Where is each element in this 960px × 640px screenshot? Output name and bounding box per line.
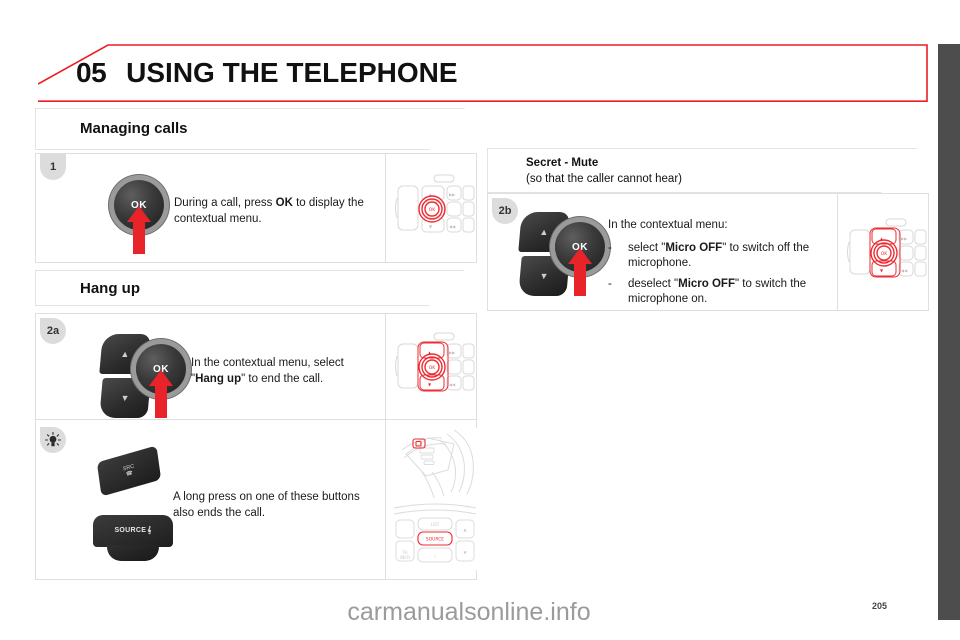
subsection-banner-hang-up: Hang up xyxy=(35,270,465,306)
secret-mute-subtitle: (so that the caller cannot hear) xyxy=(526,173,682,185)
source-button-label: SOURCE 𝄞 xyxy=(114,527,151,535)
thumbnail-radio-panel-rocker-ok-2b: ▲ ▼ ▶▶ ◀◀ OK xyxy=(846,216,928,290)
svg-text:LIST: LIST xyxy=(431,522,440,527)
section-banner: Managing calls xyxy=(35,108,465,150)
press-arrow-icon-step2a xyxy=(148,370,174,418)
step-badge-1: 1 xyxy=(40,154,66,180)
light-bulb-icon xyxy=(45,432,61,448)
page-edge-bar xyxy=(938,44,960,620)
svg-text:OK: OK xyxy=(429,365,437,371)
bullet-dash-1: - xyxy=(608,241,628,272)
step2a-text-bold: Hang up xyxy=(195,373,241,385)
step1-text-before: During a call, press xyxy=(174,197,276,209)
pen-glyph: 𝄞 xyxy=(147,527,151,534)
svg-text:OK: OK xyxy=(881,251,889,257)
secret-mute-title: Secret - Mute xyxy=(526,157,598,169)
step2a-text-after: " to end the call. xyxy=(241,373,323,385)
step2a-panel: 2a ▲ ▼ OK In the contextual menu, select… xyxy=(35,313,477,420)
bullet-dash-2: - xyxy=(608,277,628,308)
step-badge-2b: 2b xyxy=(492,198,518,224)
svg-text:▶▶: ▶▶ xyxy=(449,350,456,355)
svg-text:INFO: INFO xyxy=(400,555,410,560)
triangle-up-icon: ▲ xyxy=(539,227,549,237)
thumbnail-steering-wheel xyxy=(392,428,478,500)
tip-panel: SRC ☎ SOURCE 𝄞 A long press on one of th… xyxy=(35,420,477,580)
bullet-2-bold: Micro OFF xyxy=(678,278,735,290)
step1-text-bold: OK xyxy=(276,197,293,209)
thumbnail-radio-panel-ok: ▲ ▼ ▶▶ ◀◀ OK xyxy=(394,172,476,246)
step2b-bullet-1: - select "Micro OFF" to switch off the m… xyxy=(608,241,833,272)
watermark: carmanualsonline.info xyxy=(0,598,938,627)
step-badge-1-label: 1 xyxy=(50,161,56,173)
step2a-text: In the contextual menu, select "Hang up"… xyxy=(191,356,376,387)
step-badge-2a-label: 2a xyxy=(47,325,59,337)
thumbnail-centre-console: LIST TA INFO ♪ ▲ ▼ SOURCE xyxy=(392,498,478,570)
step1-text: During a call, press OK to display the c… xyxy=(174,196,374,227)
svg-text:◀◀: ◀◀ xyxy=(449,382,456,387)
source-button[interactable]: SOURCE 𝄞 xyxy=(93,515,173,547)
triangle-down-icon: ▼ xyxy=(539,271,549,281)
step2b-panel: 2b ▲ ▼ OK In the contextual menu: - sele… xyxy=(487,193,929,311)
bullet-2-text: deselect "Micro OFF" to switch the micro… xyxy=(628,277,833,308)
thumbnail-radio-panel-rocker-ok: ▲ ▼ ▶▶ ◀◀ OK xyxy=(394,330,476,404)
tip-text: A long press on one of these buttons als… xyxy=(173,490,373,521)
step2b-bullet-2: - deselect "Micro OFF" to switch the mic… xyxy=(608,277,833,308)
tip-badge xyxy=(40,427,66,453)
svg-text:OK: OK xyxy=(429,207,437,213)
svg-text:♪: ♪ xyxy=(434,554,437,559)
press-arrow-icon-step2b xyxy=(567,248,593,296)
svg-text:◀◀: ◀◀ xyxy=(901,268,908,273)
chapter-header: 05 USING THE TELEPHONE xyxy=(38,44,928,102)
svg-text:SOURCE: SOURCE xyxy=(426,537,444,543)
bullet-2-before: deselect " xyxy=(628,278,678,290)
chapter-title: USING THE TELEPHONE xyxy=(126,57,457,89)
svg-text:◀◀: ◀◀ xyxy=(449,224,456,229)
source-button-lower xyxy=(107,545,159,561)
section-title: Managing calls xyxy=(80,120,188,137)
step2b-text-block: In the contextual menu: - select "Micro … xyxy=(608,218,833,308)
subsection-title-hang-up: Hang up xyxy=(80,280,140,297)
step2b-intro: In the contextual menu: xyxy=(608,218,833,234)
src-phone-button-label: SRC ☎ xyxy=(123,463,136,478)
svg-text:▶▶: ▶▶ xyxy=(901,236,908,241)
step1-panel-divider xyxy=(385,154,386,262)
triangle-up-icon: ▲ xyxy=(120,349,130,359)
step-badge-2a: 2a xyxy=(40,318,66,344)
tip-panel-divider xyxy=(385,420,386,579)
bullet-1-bold: Micro OFF xyxy=(665,242,722,254)
phone-glyph: ☎ xyxy=(126,470,133,478)
bullet-1-text: select "Micro OFF" to switch off the mic… xyxy=(628,241,833,272)
bullet-1-before: select " xyxy=(628,242,665,254)
press-arrow-icon-step1 xyxy=(126,206,152,254)
svg-text:▶▶: ▶▶ xyxy=(449,192,456,197)
step2a-panel-divider xyxy=(385,314,386,419)
step-badge-2b-label: 2b xyxy=(499,205,512,217)
triangle-down-icon: ▼ xyxy=(120,393,130,403)
source-label: SOURCE xyxy=(114,527,146,534)
step2b-panel-divider xyxy=(837,194,838,310)
chapter-number: 05 xyxy=(76,57,106,89)
src-phone-button[interactable]: SRC ☎ xyxy=(97,445,161,496)
right-section-banner: Secret - Mute (so that the caller cannot… xyxy=(487,148,917,193)
page-number: 205 xyxy=(872,601,887,611)
step1-panel: 1 OK During a call, press OK to display … xyxy=(35,153,477,263)
